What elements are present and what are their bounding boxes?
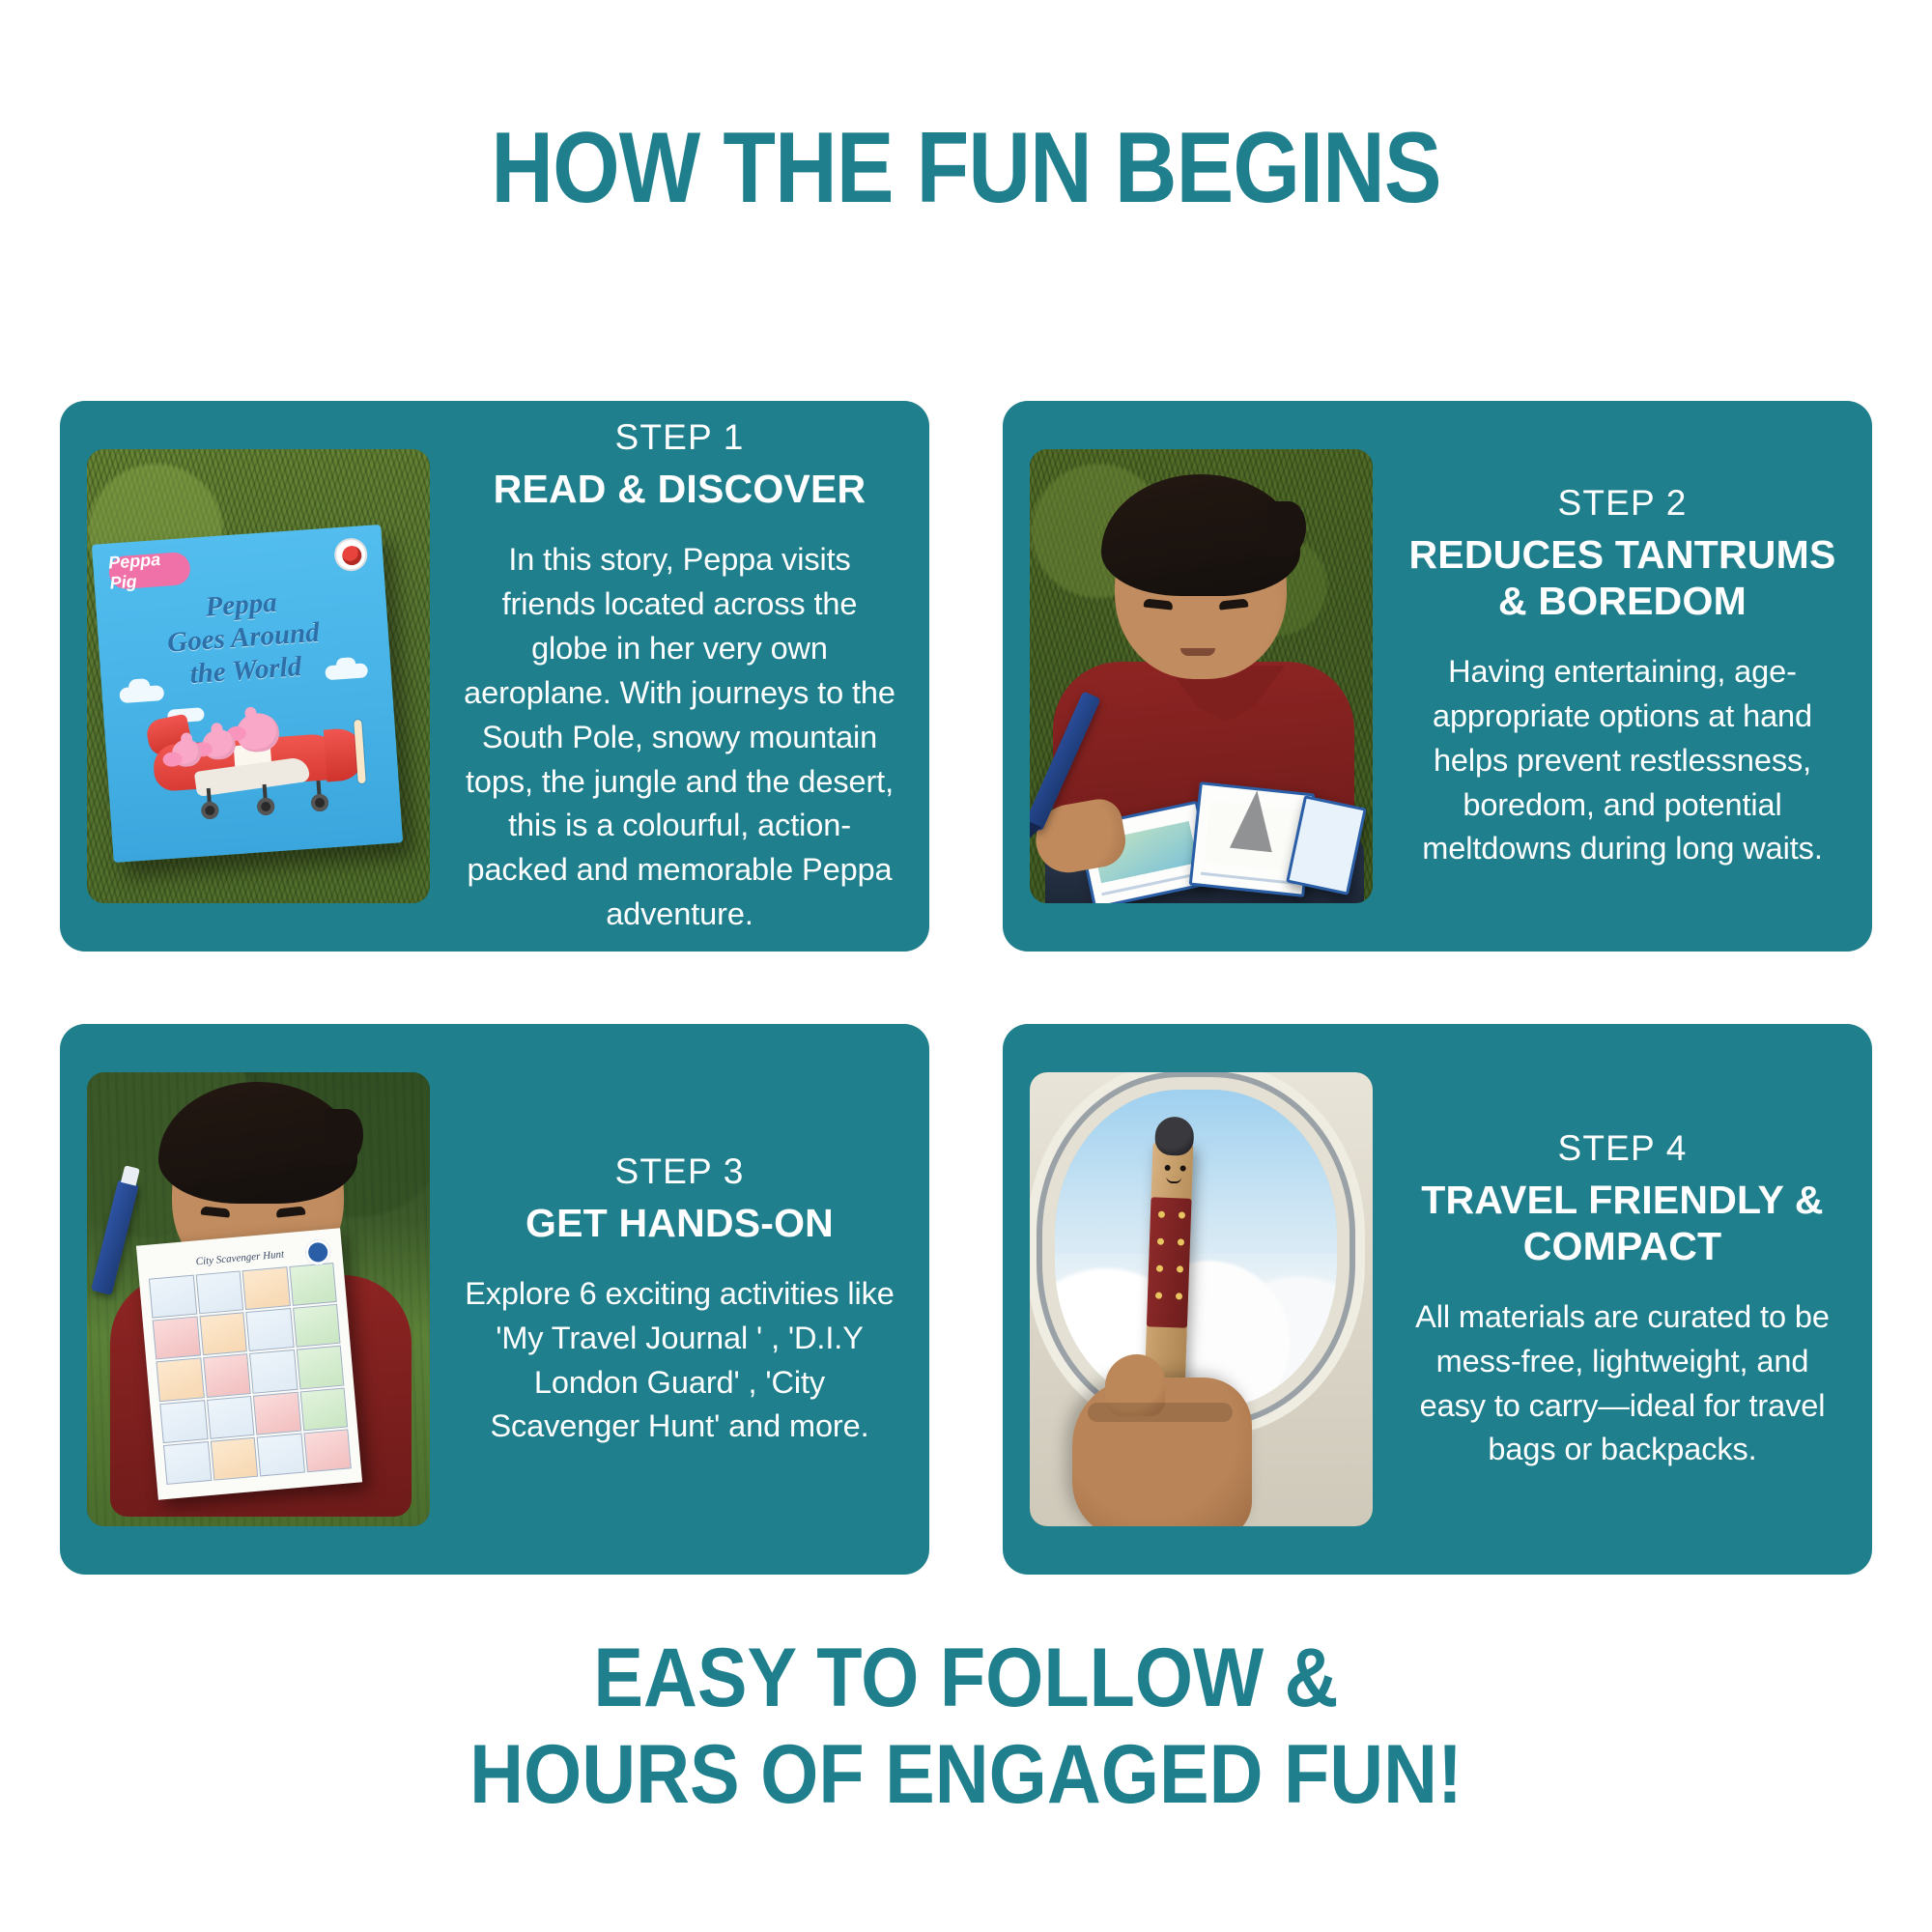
step-card-1: Peppa Pig Peppa Goes Around the World: [60, 401, 929, 952]
step-label: STEP 4: [1406, 1126, 1839, 1171]
coat-button: [1178, 1238, 1184, 1245]
cloud-icon: [325, 663, 368, 680]
city-scavenger-hunt-sheet: City Scavenger Hunt: [136, 1228, 362, 1499]
step-card-3: City Scavenger Hunt: [60, 1024, 929, 1575]
footer-heading-line-1: EASY TO FOLLOW &: [97, 1631, 1835, 1727]
sheet-cell: [257, 1433, 305, 1476]
coat-button: [1158, 1211, 1165, 1218]
mouth: [1180, 648, 1215, 656]
plane-wheel: [257, 797, 275, 815]
sheet-cell: [249, 1350, 298, 1393]
diy-london-guard-craft-at-plane-window-photo: [1030, 1072, 1373, 1526]
step-title: READ & DISCOVER: [463, 467, 896, 513]
step-body: All materials are curated to be mess-fre…: [1406, 1295, 1839, 1472]
coat-button: [1177, 1265, 1183, 1272]
step-4-text: STEP 4 TRAVEL FRIENDLY & COMPACT All mat…: [1373, 1126, 1872, 1472]
peppa-book-cover: Peppa Pig Peppa Goes Around the World: [92, 525, 403, 863]
step-title: TRAVEL FRIENDLY & COMPACT: [1406, 1178, 1839, 1270]
step-body: Having entertaining, age-appropriate opt…: [1406, 650, 1839, 871]
activity-card-line: [1201, 872, 1295, 885]
plane-wheel: [201, 801, 219, 819]
infographic-page: HOW THE FUN BEGINS Peppa Pig Peppa Goes …: [0, 0, 1932, 1932]
sheet-grid: [149, 1263, 352, 1485]
activity-card-artwork: [1204, 801, 1300, 871]
cloud-icon: [119, 685, 164, 703]
coat-button: [1179, 1211, 1185, 1218]
boy-holding-scavenger-hunt-sheet-photo: City Scavenger Hunt: [87, 1072, 430, 1526]
guard-bearskin-hat: [1154, 1116, 1194, 1155]
step-title: REDUCES TANTRUMS & BOREDOM: [1406, 532, 1839, 625]
sheet-badge-icon: [304, 1238, 331, 1265]
step-title: GET HANDS-ON: [463, 1201, 896, 1247]
steps-grid: Peppa Pig Peppa Goes Around the World: [60, 401, 1872, 1575]
sheet-cell: [163, 1441, 212, 1485]
peppa-pig-logo: Peppa Pig: [108, 552, 191, 590]
ladybird-badge-icon: [333, 537, 368, 572]
sheet-cell: [210, 1437, 258, 1481]
step-1-text: STEP 1 READ & DISCOVER In this story, Pe…: [430, 415, 929, 937]
step-2-text: STEP 2 REDUCES TANTRUMS & BOREDOM Having…: [1373, 481, 1872, 871]
coat-button: [1157, 1238, 1164, 1245]
boy-writing-on-activity-cards-photo: [1030, 449, 1373, 903]
hand-holding-craft: [1072, 1378, 1252, 1526]
sheet-cell: [195, 1270, 243, 1314]
sheet-cell: [245, 1308, 294, 1351]
boy-hair: [1101, 474, 1300, 596]
book-title-line-3: the World: [188, 651, 302, 690]
footer-heading: EASY TO FOLLOW & HOURS OF ENGAGED FUN!: [97, 1631, 1835, 1824]
book-title-line-1: Peppa: [205, 587, 278, 623]
sheet-cell: [207, 1396, 255, 1439]
sheet-cell: [289, 1263, 337, 1306]
step-3-text: STEP 3 GET HANDS-ON Explore 6 exciting a…: [430, 1150, 929, 1449]
sheet-cell: [253, 1391, 301, 1435]
sheet-cell: [199, 1312, 247, 1355]
step-label: STEP 3: [463, 1150, 896, 1194]
sheet-cell: [203, 1354, 251, 1398]
step-card-2: STEP 2 REDUCES TANTRUMS & BOREDOM Having…: [1003, 401, 1872, 952]
coat-button: [1176, 1293, 1182, 1299]
boy-figure: [1030, 449, 1373, 903]
blue-marker: [91, 1179, 139, 1295]
step-body: In this story, Peppa visits friends loca…: [463, 538, 896, 936]
sheet-cell: [303, 1429, 352, 1472]
step-body: Explore 6 exciting activities like 'My T…: [463, 1272, 896, 1449]
sheet-cell: [153, 1317, 201, 1360]
coat-button: [1156, 1265, 1163, 1272]
sheet-cell: [149, 1275, 197, 1319]
eiffel-tower-icon: [1230, 788, 1278, 852]
sheet-cell: [156, 1358, 204, 1402]
coat-button: [1155, 1293, 1162, 1299]
step-label: STEP 2: [1406, 481, 1839, 526]
step-label: STEP 1: [463, 415, 896, 460]
sheet-cell: [242, 1266, 291, 1310]
guard-coat-buttons: [1151, 1205, 1187, 1320]
plane-wheel: [310, 793, 328, 811]
sheet-cell: [299, 1387, 348, 1431]
page-title: HOW THE FUN BEGINS: [135, 118, 1797, 218]
footer-heading-line-2: HOURS OF ENGAGED FUN!: [97, 1727, 1835, 1824]
red-aeroplane-illustration: [142, 698, 367, 821]
sheet-cell: [296, 1346, 344, 1389]
sheet-cell: [293, 1304, 341, 1348]
step-card-4: STEP 4 TRAVEL FRIENDLY & COMPACT All mat…: [1003, 1024, 1872, 1575]
peppa-pig-book-on-grass-photo: Peppa Pig Peppa Goes Around the World: [87, 449, 430, 903]
boy-hair: [158, 1082, 357, 1204]
sheet-cell: [159, 1400, 208, 1443]
boy-figure: City Scavenger Hunt: [87, 1072, 430, 1526]
